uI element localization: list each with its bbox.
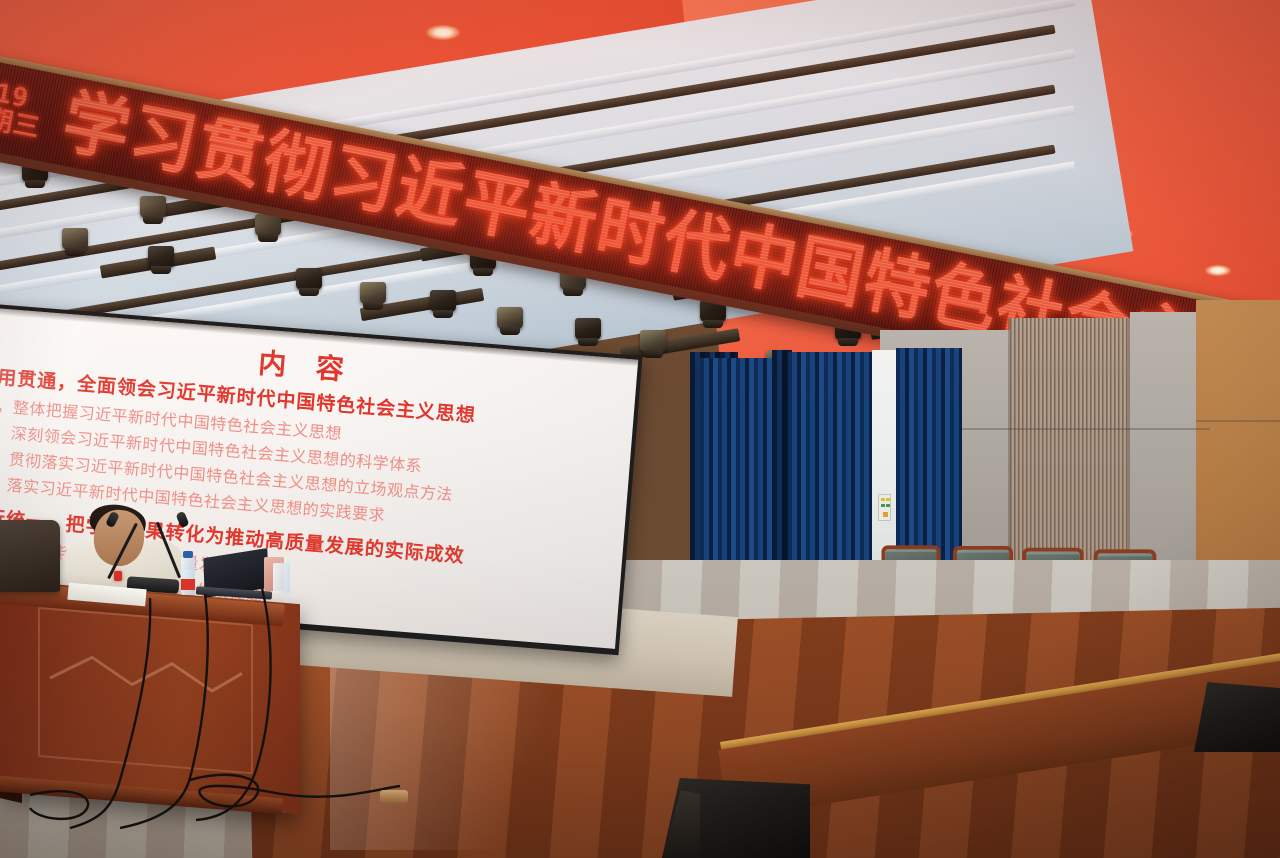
stage-spotlight (360, 282, 386, 304)
stage-spotlight (497, 307, 523, 329)
ceiling-downlight (1205, 265, 1231, 276)
floor-cable-box (380, 790, 408, 803)
stage-spotlight (62, 228, 88, 250)
ceiling-downlight (426, 25, 460, 40)
stage-spotlight (575, 318, 601, 340)
wall-control-panel[interactable] (878, 494, 891, 521)
stage-monitor-speaker (1194, 682, 1280, 752)
stage-cables (0, 580, 520, 830)
wall-seam (1196, 420, 1280, 422)
stage-spotlight (640, 330, 666, 352)
bottle-cap (183, 551, 193, 558)
stage-spotlight (140, 196, 166, 218)
stage-spotlight (296, 268, 322, 290)
conference-hall-scene: 3/07/19 :53 星期三 学习贯彻习近平新时代中国特色社会主义思想主题教育… (0, 0, 1280, 858)
stage-spotlight (430, 290, 456, 312)
stage-spotlight (148, 246, 174, 268)
